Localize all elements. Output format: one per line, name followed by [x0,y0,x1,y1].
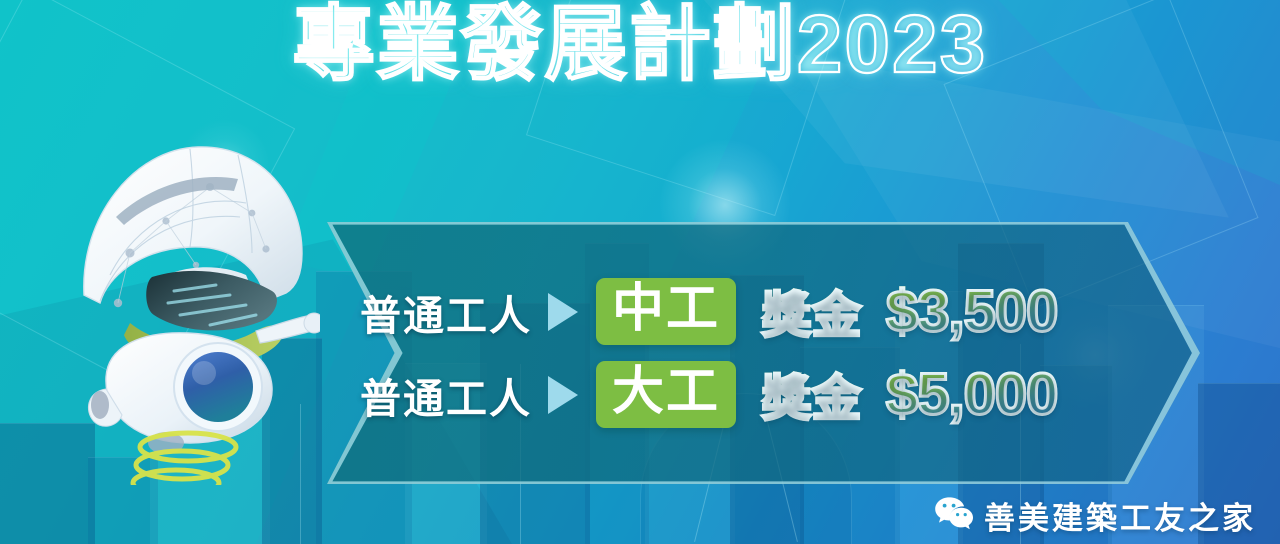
brand-footer: 善美建築工友之家 [934,493,1256,538]
award-label: 獎金 [762,359,862,430]
wechat-icon [934,496,974,535]
promotional-banner: 專業發展計劃2023 [0,0,1280,544]
offer-panel: 普通工人 中工 獎金 $3,500 普通工人 大工 獎金 $5,000 [300,222,1200,484]
award-label: 獎金 [762,276,862,347]
offer-row: 普通工人 中工 獎金 $3,500 [336,276,1160,347]
brand-name: 善美建築工友之家 [984,493,1256,538]
role-label: 普通工人 [360,282,532,342]
offer-rows: 普通工人 中工 獎金 $3,500 普通工人 大工 獎金 $5,000 [336,222,1160,484]
award-amount: $3,500 [886,278,1057,345]
grade-badge: 大工 [596,361,736,428]
offer-row: 普通工人 大工 獎金 $5,000 [336,359,1160,430]
title-block: 專業發展計劃2023 [0,0,1280,97]
page-title: 專業發展計劃2023 [293,0,987,97]
triangle-right-icon [548,376,578,414]
role-label: 普通工人 [360,365,532,425]
triangle-right-icon [548,293,578,331]
grade-label: 大工 [612,364,720,421]
robot-mascot [70,125,320,485]
award-amount: $5,000 [886,361,1057,428]
grade-label: 中工 [612,281,720,338]
grade-badge: 中工 [596,278,736,345]
